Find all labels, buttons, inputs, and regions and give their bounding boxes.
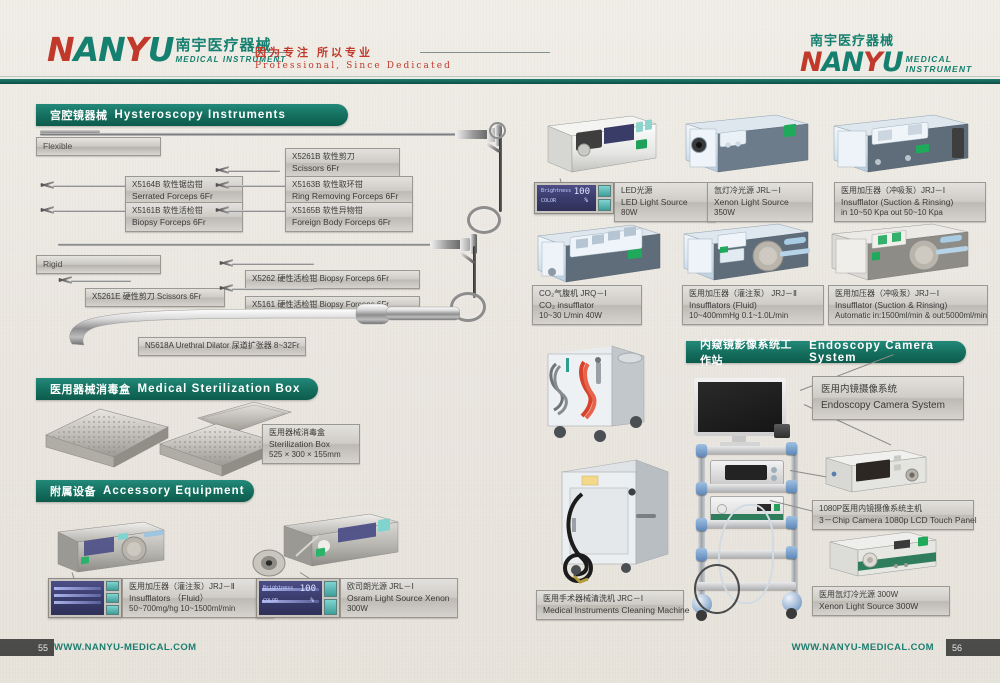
item-en: Insufflator (Suction & Rinsing) <box>835 300 981 311</box>
lcd-buttons[interactable] <box>106 581 119 615</box>
hysteroscope-handle <box>455 118 515 248</box>
item-cn: X5163B 软性取环钳 <box>292 180 406 191</box>
item-en: Xenon Light Source 300W <box>819 601 943 612</box>
section-en-camera: Endoscopy Camera System <box>809 340 966 364</box>
item-en: 3－Chip Camera 1080p LCD Touch Panel <box>819 515 967 526</box>
camera-head <box>774 424 790 438</box>
item-cn: 医用器械消毒盒 <box>269 428 353 439</box>
item-cn: 氙灯冷光源 JRL－Ⅰ <box>714 186 806 197</box>
item-label-osram-light-source: 欧司朗光源 JRL－Ⅰ Osram Light Source Xenon 300… <box>340 578 458 618</box>
tag-rigid-label: Rigid <box>43 259 62 270</box>
item-en: Scissors 6Fr <box>292 163 393 174</box>
item-label-insufflator-suction-1: 医用加压器（冲吸泵）JRJ－Ⅰ Insufflator (Suction & R… <box>834 182 986 222</box>
power-cable <box>694 564 740 614</box>
page-number-left: 55 <box>0 639 54 656</box>
item-cn: X5165B 软性异物钳 <box>292 206 406 217</box>
instrument-shaft <box>232 263 314 265</box>
hysteroscope-shaft <box>40 132 470 136</box>
section-en-hysteroscopy: Hysteroscopy Instruments <box>115 109 286 121</box>
item-spec: 525 × 300 × 155mm <box>269 450 353 461</box>
section-header-sterilization: 医用器械消毒盒 Medical Sterilization Box <box>36 378 318 400</box>
item-label-insufflator-suction-auto: 医用加压器（冲吸泵）JRJ－Ⅰ Insufflator (Suction & R… <box>828 285 988 325</box>
instrument-shaft <box>232 288 314 290</box>
item-cn: 医用手术器械清洗机 JRC－Ⅰ <box>543 594 677 605</box>
item-cn: 欧司朗光源 JRL－Ⅰ <box>347 582 451 593</box>
tag-rigid: Rigid <box>36 255 161 274</box>
item-cn: 医用加压器（冲吸泵）JRJ－Ⅰ <box>841 186 979 197</box>
instrument-jaw <box>215 205 229 215</box>
section-cn-sterilization: 医用器械消毒盒 <box>50 381 131 397</box>
tower-monitor <box>694 378 786 436</box>
brand-sub-en-r2: INSTRUMENT <box>906 64 973 74</box>
lcd-readout-led: Brightness 100 COLOR % <box>534 182 614 214</box>
item-cn: 医用加压器（灌注泵） JRJ－Ⅱ <box>689 289 817 300</box>
caster-wheel <box>696 610 707 621</box>
instrument-jaw <box>219 258 233 268</box>
item-spec: Automatic in:1500ml/min & out:5000ml/min <box>835 311 981 322</box>
page-header: NANYU 南宇医疗器械 MEDICAL INSTRUMENT 因为专注 所以专… <box>0 0 1000 84</box>
page-footer: 55 WWW.NANYU-MEDICAL.COM WWW.NANYU-MEDIC… <box>0 631 1000 683</box>
instrument-shaft <box>228 170 280 172</box>
item-en: Insufflator (Suction & Rinsing) <box>841 197 979 208</box>
item-en: Xenon Light Source <box>714 197 806 208</box>
device-insufflator-fluid-2 <box>680 222 820 288</box>
item-label-insufflator-fluid-2: 医用加压器（灌注泵） JRJ－Ⅱ Insufflators (Fluid) 10… <box>682 285 824 325</box>
slogan: 因为专注 所以专业 Professional, Since Dedicated <box>255 44 685 71</box>
item-label-rigid-biopsy-x5262: X5262 硬性活检钳 Biopsy Forceps 6Fr <box>245 270 420 289</box>
item-en: Osram Light Source Xenon <box>347 593 451 604</box>
device-co2-insufflator <box>532 222 662 288</box>
item-cn: X5261B 软性剪刀 <box>292 152 393 163</box>
item-en: Serrated Forceps 6Fr <box>132 191 236 202</box>
item-spec: 10~30 L/min 40W <box>539 311 635 322</box>
device-xenon-light-source <box>680 112 810 178</box>
item-spec: 80W <box>621 208 709 219</box>
page-number-right: 56 <box>946 639 1000 656</box>
tower-joint <box>786 546 797 559</box>
brand-logo-left: NANYU 南宇医疗器械 MEDICAL INSTRUMENT <box>47 33 286 66</box>
lcd-brightness-value: 100 <box>300 584 316 594</box>
device-osram-light-source <box>278 510 400 568</box>
device-led-light-source <box>540 112 658 178</box>
item-label-camera-system-main: 医用内镜摄像系统 Endoscopy Camera System <box>812 376 964 420</box>
instrument-jaw <box>219 283 233 293</box>
light-source-port <box>717 504 727 514</box>
tag-flexible-label: Flexible <box>43 141 72 152</box>
lcd-buttons[interactable] <box>598 185 611 211</box>
item-label-cleaning-machine: 医用手术器械清洗机 JRC－Ⅰ Medical Instruments Clea… <box>536 590 684 620</box>
tower-joint <box>786 480 797 493</box>
device-insufflator-suction-auto <box>828 222 974 288</box>
item-label-insufflator-fluid: 医用加压器（灌注泵）JRJ－Ⅱ Insufflators （Fluid） 50~… <box>122 578 274 618</box>
monitor-screen <box>698 382 782 432</box>
section-header-accessory: 附属设备 Accessory Equipment <box>36 480 254 502</box>
tag-flexible: Flexible <box>36 137 161 156</box>
section-header-hysteroscopy: 宫腔镜器械 Hysteroscopy Instruments <box>36 104 348 126</box>
instrument-jaw <box>40 205 54 215</box>
ccu-knob <box>771 467 777 473</box>
tower-joint <box>696 482 707 495</box>
item-text: X5262 硬性活检钳 Biopsy Forceps 6Fr <box>252 274 389 285</box>
sterilization-box-closed <box>42 405 172 475</box>
instrument-jaw <box>58 275 72 285</box>
slogan-rule-right <box>420 52 550 53</box>
item-cn: 医用氙灯冷光源 300W <box>819 590 943 601</box>
item-en: Foreign Body Forceps 6Fr <box>292 217 406 228</box>
header-hairline <box>0 76 1000 77</box>
item-label-urethral-dilator: N5618A Urethral Dilator 尿道扩张器 8~32Fr <box>138 337 306 356</box>
item-label-co2-insufflator: CO₂气腹机 JRQ－Ⅰ CO₂ insufflator 10~30 L/min… <box>532 285 642 325</box>
page-number-right-text: 56 <box>952 643 962 653</box>
brand-wordmark-right: NANYU <box>800 49 903 76</box>
ccu-knob <box>771 475 777 481</box>
lcd-brightness-label: Brightness <box>541 188 571 194</box>
brand-sub-en-r1: MEDICAL <box>906 54 973 64</box>
item-cn: 医用加压器（冲吸泵）JRJ－Ⅰ <box>835 289 981 300</box>
camera-control-unit <box>710 460 784 486</box>
section-en-accessory: Accessory Equipment <box>103 485 245 497</box>
instrument-jaw <box>215 165 229 175</box>
device-cleaning-machine-lower <box>556 458 672 584</box>
device-insufflator-suction-rinsing-1 <box>830 112 970 178</box>
section-cn-hysteroscopy: 宫腔镜器械 <box>50 107 108 123</box>
lcd-panel: Brightness 100 COLOR % <box>259 581 322 615</box>
lcd-second-label: COLOR <box>541 198 556 204</box>
instrument-shaft <box>71 280 131 282</box>
item-cn: CO₂气腹机 JRQ－Ⅰ <box>539 289 635 300</box>
instrument-shaft <box>53 185 131 187</box>
device-xenon-300w <box>824 530 940 582</box>
hysteroscope-tip <box>40 130 100 133</box>
item-label-led-light-source: LED光源 LED Light Source 80W <box>614 182 716 222</box>
item-label-foreign-body-forceps: X5165B 软性异物钳 Foreign Body Forceps 6Fr <box>285 202 413 232</box>
lcd-readout-insufflator <box>48 578 122 618</box>
lcd-buttons[interactable] <box>324 581 337 615</box>
instrument-shaft <box>228 185 290 187</box>
section-header-camera-system: 内窥镜影像系统工作站 Endoscopy Camera System <box>686 341 966 363</box>
section-en-sterilization: Medical Sterilization Box <box>138 383 301 395</box>
section-cn-accessory: 附属设备 <box>50 483 96 499</box>
lcd-second-label: COLOR <box>263 598 278 604</box>
tower-joint <box>786 442 797 455</box>
item-en: Insufflators (Fluid) <box>689 300 817 311</box>
light-emitter-puck <box>252 548 286 578</box>
item-en: CO₂ insufflator <box>539 300 635 311</box>
instrument-jaw <box>40 180 54 190</box>
item-en: LED Light Source <box>621 197 709 208</box>
item-en: Biopsy Forceps 6Fr <box>132 217 236 228</box>
caster-wheel <box>786 608 797 619</box>
device-cleaning-machine-upper <box>540 344 650 452</box>
item-label-xenon-300w: 医用氙灯冷光源 300W Xenon Light Source 300W <box>812 586 950 616</box>
brand-logo-right: 南宇医疗器械 NANYU MEDICAL INSTRUMENT <box>800 30 972 76</box>
lcd-second-value: % <box>584 197 588 204</box>
footer-url-right[interactable]: WWW.NANYU-MEDICAL.COM <box>792 642 934 653</box>
lcd-panel <box>51 581 104 615</box>
item-en: Insufflators （Fluid） <box>129 593 267 604</box>
item-label-scissors-6fr: X5261B 软性剪刀 Scissors 6Fr <box>285 148 400 178</box>
header-rule <box>0 79 1000 84</box>
item-cn: 医用加压器（灌注泵）JRJ－Ⅱ <box>129 582 267 593</box>
item-label-camera-host: 1080P医用内镜摄像系统主机 3－Chip Camera 1080p LCD … <box>812 500 974 530</box>
item-cn: 1080P医用内镜摄像系统主机 <box>819 504 967 515</box>
ccu-screen <box>725 465 767 480</box>
device-camera-host <box>820 448 930 496</box>
tower-joint <box>786 516 797 529</box>
item-en: Endoscopy Camera System <box>821 399 955 412</box>
item-cn: 医用内镜摄像系统 <box>821 384 955 397</box>
item-en: Sterilization Box <box>269 439 353 450</box>
instrument-jaw <box>215 180 229 190</box>
slogan-en: Professional, Since Dedicated <box>255 61 685 71</box>
item-spec: 300W <box>347 604 451 615</box>
footer-url-left[interactable]: WWW.NANYU-MEDICAL.COM <box>54 642 196 653</box>
device-insufflator-fluid <box>48 516 166 574</box>
item-en: Medical Instruments Cleaning Machine <box>543 605 677 616</box>
lcd-second-value: % <box>310 597 314 604</box>
catalog-page: NANYU 南宇医疗器械 MEDICAL INSTRUMENT 因为专注 所以专… <box>0 0 1000 683</box>
tower-joint <box>696 518 707 531</box>
item-spec: 350W <box>714 208 806 219</box>
lcd-readout-light-source: Brightness 100 COLOR % <box>256 578 340 618</box>
item-spec: 50~700mg/hg 10~1500ml/min <box>129 604 267 615</box>
item-text: N5618A Urethral Dilator 尿道扩张器 8~32Fr <box>145 341 300 352</box>
page-number-left-text: 55 <box>38 643 48 653</box>
lcd-panel: Brightness 100 COLOR % <box>537 185 596 211</box>
brand-wordmark: NANYU <box>47 33 174 66</box>
section-cn-camera: 内窥镜影像系统工作站 <box>700 336 802 368</box>
rigid-scope-shaft <box>58 243 448 246</box>
item-spec: 10~400mmHg 0.1~1.0L/min <box>689 311 817 322</box>
item-en: Ring Removing Forceps 6Fr <box>292 191 406 202</box>
item-spec: in 10~50 Kpa out 50~10 Kpa <box>841 208 979 219</box>
endoscopy-camera-tower <box>688 378 818 623</box>
item-label-xenon-light-source: 氙灯冷光源 JRL－Ⅰ Xenon Light Source 350W <box>707 182 813 222</box>
instrument-shaft <box>228 210 290 212</box>
instrument-shaft <box>53 210 131 212</box>
tower-shelf-1 <box>696 446 796 454</box>
light-source-power-led <box>774 504 780 511</box>
item-label-sterilization-box: 医用器械消毒盒 Sterilization Box 525 × 300 × 15… <box>262 424 360 464</box>
item-cn: LED光源 <box>621 186 709 197</box>
tower-shelf-2 <box>696 484 796 492</box>
lcd-brightness-value: 100 <box>574 187 590 197</box>
lcd-brightness-label: Brightness <box>263 585 293 591</box>
tower-joint <box>696 444 707 457</box>
tower-joint <box>696 548 707 561</box>
